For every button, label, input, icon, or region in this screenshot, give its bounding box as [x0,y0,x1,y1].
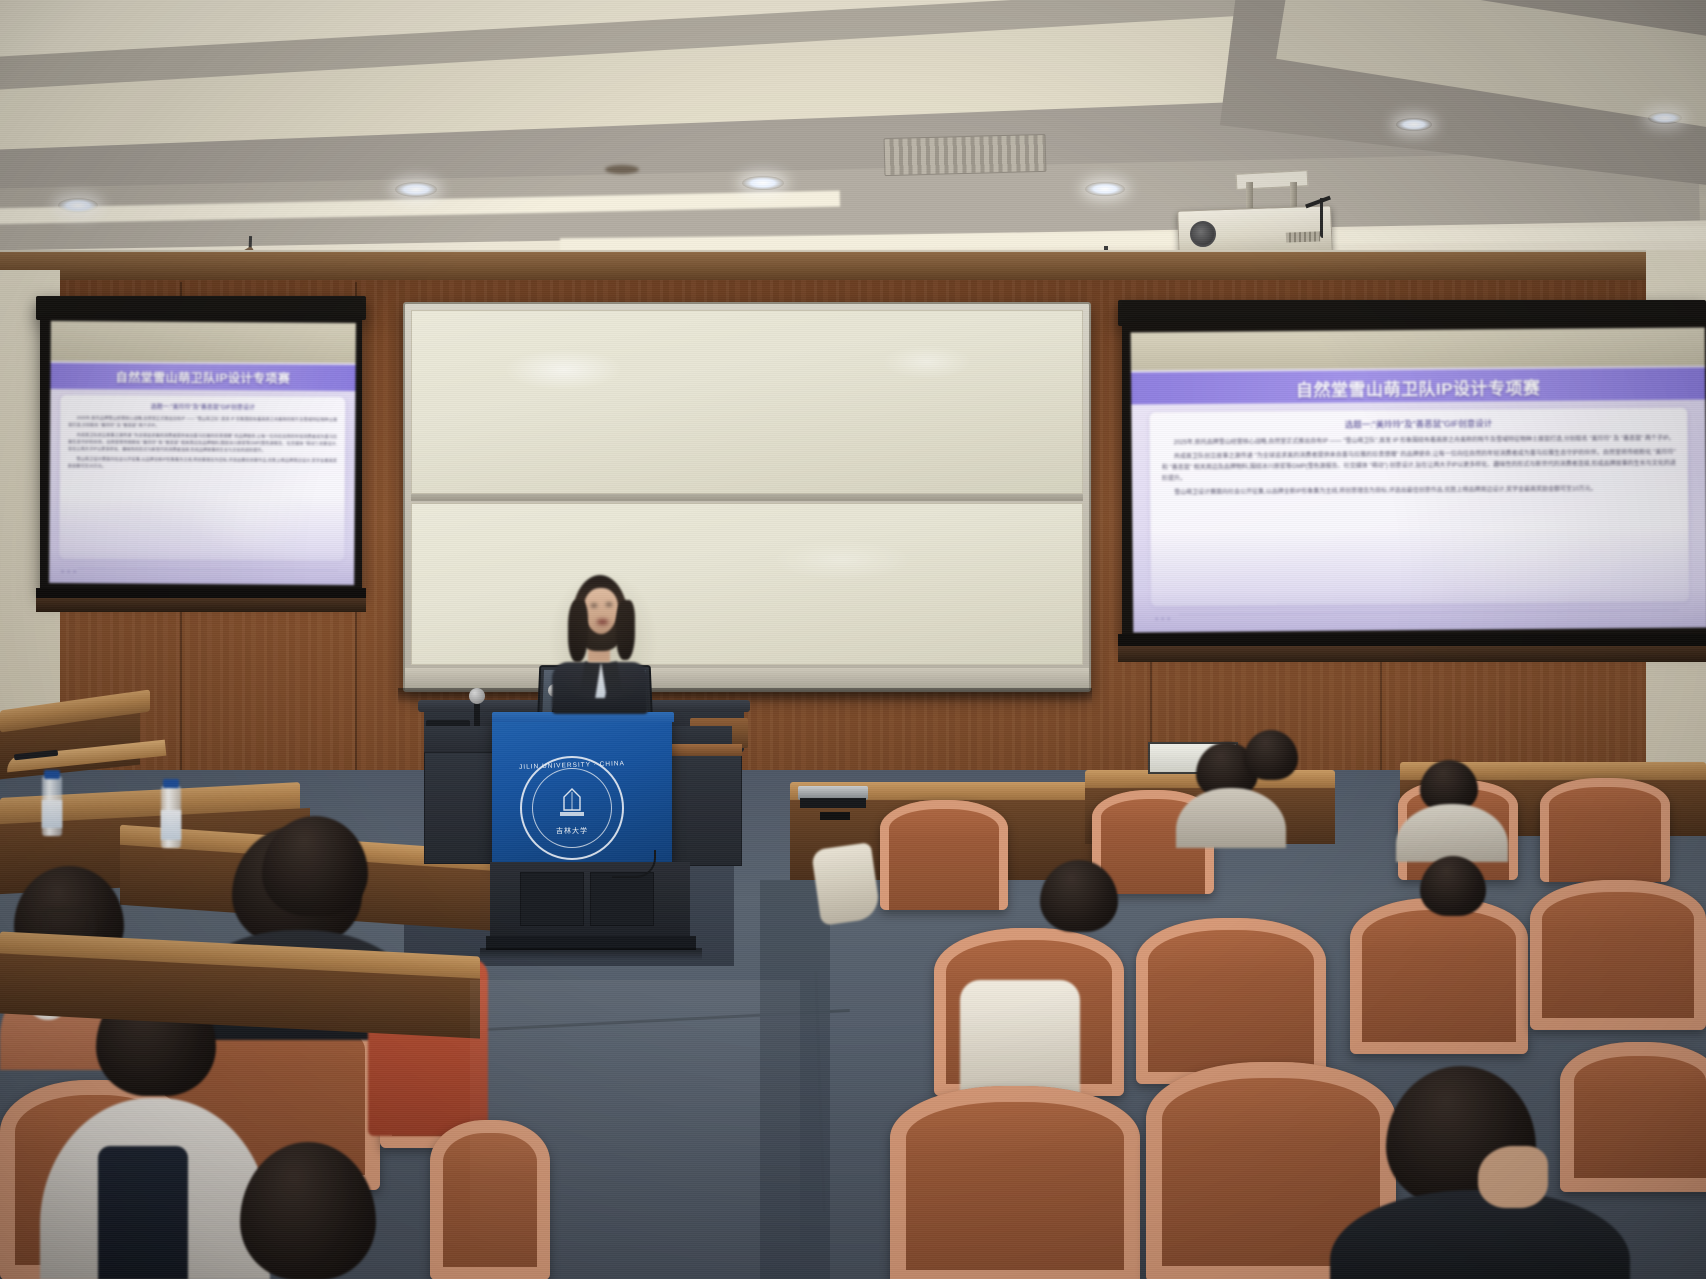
podium-front-panel: JILIN UNIVERSITY · CHINA 吉林大学 [492,718,672,864]
downlight [1648,112,1682,124]
water-bottle-label [161,810,181,840]
water-bottle-cap [163,779,179,788]
equipment-slot [800,798,866,808]
slide-paragraph: 共成首卫队创立故事之源传递 "为全球追求美的消费者提供来自喜马拉雅的珍贵馈赠" … [1162,448,1676,486]
presenter-shadow [548,570,658,710]
podium-base-door [520,872,584,926]
right-projection-screen: 自然堂雪山萌卫队IP设计专项赛 选题一:"美玲玲"及"善恶鼠"GIF创意设计 2… [1131,328,1706,633]
right-screen-bottom-bar [1118,634,1706,646]
audience-head [1420,856,1486,916]
slide-subtitle: 选题一:"美玲玲"及"善恶鼠"GIF创意设计 [68,401,337,412]
left-screen-bottom-bar [36,588,366,598]
slide-paragraph: 共成首卫队创立故事之源传递 "为全球追求美的消费者提供来自喜马拉雅的珍贵馈赠" … [68,431,337,455]
desk-cable-port [820,812,850,820]
podium-floor-shadow [480,948,702,960]
wall-trim [0,252,1706,282]
podium-microphone-head [469,688,485,704]
audience-head [1244,730,1298,780]
seal-emblem-icon [556,786,588,820]
left-projection-screen: 自然堂雪山萌卫队IP设计专项赛 选题一:"美玲玲"及"善恶鼠"GIF创意设计 2… [49,321,356,585]
downlight [742,176,784,190]
water-bottle-label [42,800,62,828]
slide-rule [77,568,338,571]
slide-dots [1155,617,1170,620]
audience-person-coat [98,1146,188,1279]
whiteboard-marker-tray [405,668,1089,690]
right-screen-shadow [1118,646,1706,662]
lecture-hall-photo: 自然堂雪山萌卫队IP设计专项赛 选题一:"美玲玲"及"善恶鼠"GIF创意设计 2… [0,0,1706,1279]
left-screen-shadow [36,598,366,612]
downlight [58,198,98,213]
auditorium-seat[interactable] [1136,918,1326,1084]
podium-left-panel [424,752,502,864]
slide-title: 自然堂雪山萌卫队IP设计专项赛 [50,368,355,387]
slide-title: 自然堂雪山萌卫队IP设计专项赛 [1131,372,1705,402]
slide-paragraph: 2025年,依托品牌雪山经营核心战略,自然堂正式推出自有IP —— "雪山萌卫队… [68,414,337,431]
auditorium-seat[interactable] [880,800,1008,910]
auditorium-seat[interactable] [1560,1042,1706,1192]
whiteboard [403,302,1091,692]
slide-dots [61,570,76,573]
slide-paragraph: 2025年,依托品牌雪山经营核心战略,自然堂正式推出自有IP —— "雪山萌卫队… [1162,434,1676,450]
auditorium-seat[interactable] [1530,880,1706,1030]
smoke-detector [605,165,639,174]
podium-right-ledge [660,744,742,756]
whiteboard-divider [411,494,1083,501]
slide-rule [1179,610,1679,615]
slide-paragraph: 雪山萌卫设计赛面向社会公开征集,以品牌全新IP形象集为主线,将创意理念为目标,评… [68,455,337,472]
downlight [1085,182,1125,196]
air-vent [884,134,1047,176]
podium-right-panel [660,752,742,866]
projector-grill [1286,231,1320,242]
auditorium-seat[interactable] [1540,778,1670,882]
projector-cable [1320,198,1323,238]
left-slide: 自然堂雪山萌卫队IP设计专项赛 选题一:"美玲玲"及"善恶鼠"GIF创意设计 2… [49,321,356,585]
downlight [1396,118,1432,131]
projector-lens-icon [1190,221,1216,247]
slide-paragraph: 雪山萌卫设计赛面向社会公开征集,以品牌全新IP形象集为主线,将创意理念为目标,评… [1162,484,1676,500]
slide-subtitle: 选题一:"美玲玲"及"善恶鼠"GIF创意设计 [1161,416,1675,432]
university-seal-inner-text: 吉林大学 [532,826,612,836]
draped-coat [811,842,881,926]
podium-base-door [590,872,654,926]
water-bottle-cap [44,770,60,779]
whiteboard-lower-panel [411,503,1083,665]
audience-ear [1478,1146,1548,1208]
right-slide: 自然堂雪山萌卫队IP设计专项赛 选题一:"美玲玲"及"善恶鼠"GIF创意设计 2… [1131,328,1706,633]
downlight [395,182,437,197]
auditorium-seat[interactable] [890,1086,1140,1279]
whiteboard-upper-panel [411,310,1083,494]
floor-highlight [470,980,800,1279]
eyeglasses [44,908,94,936]
auditorium-seat[interactable] [1350,898,1528,1054]
